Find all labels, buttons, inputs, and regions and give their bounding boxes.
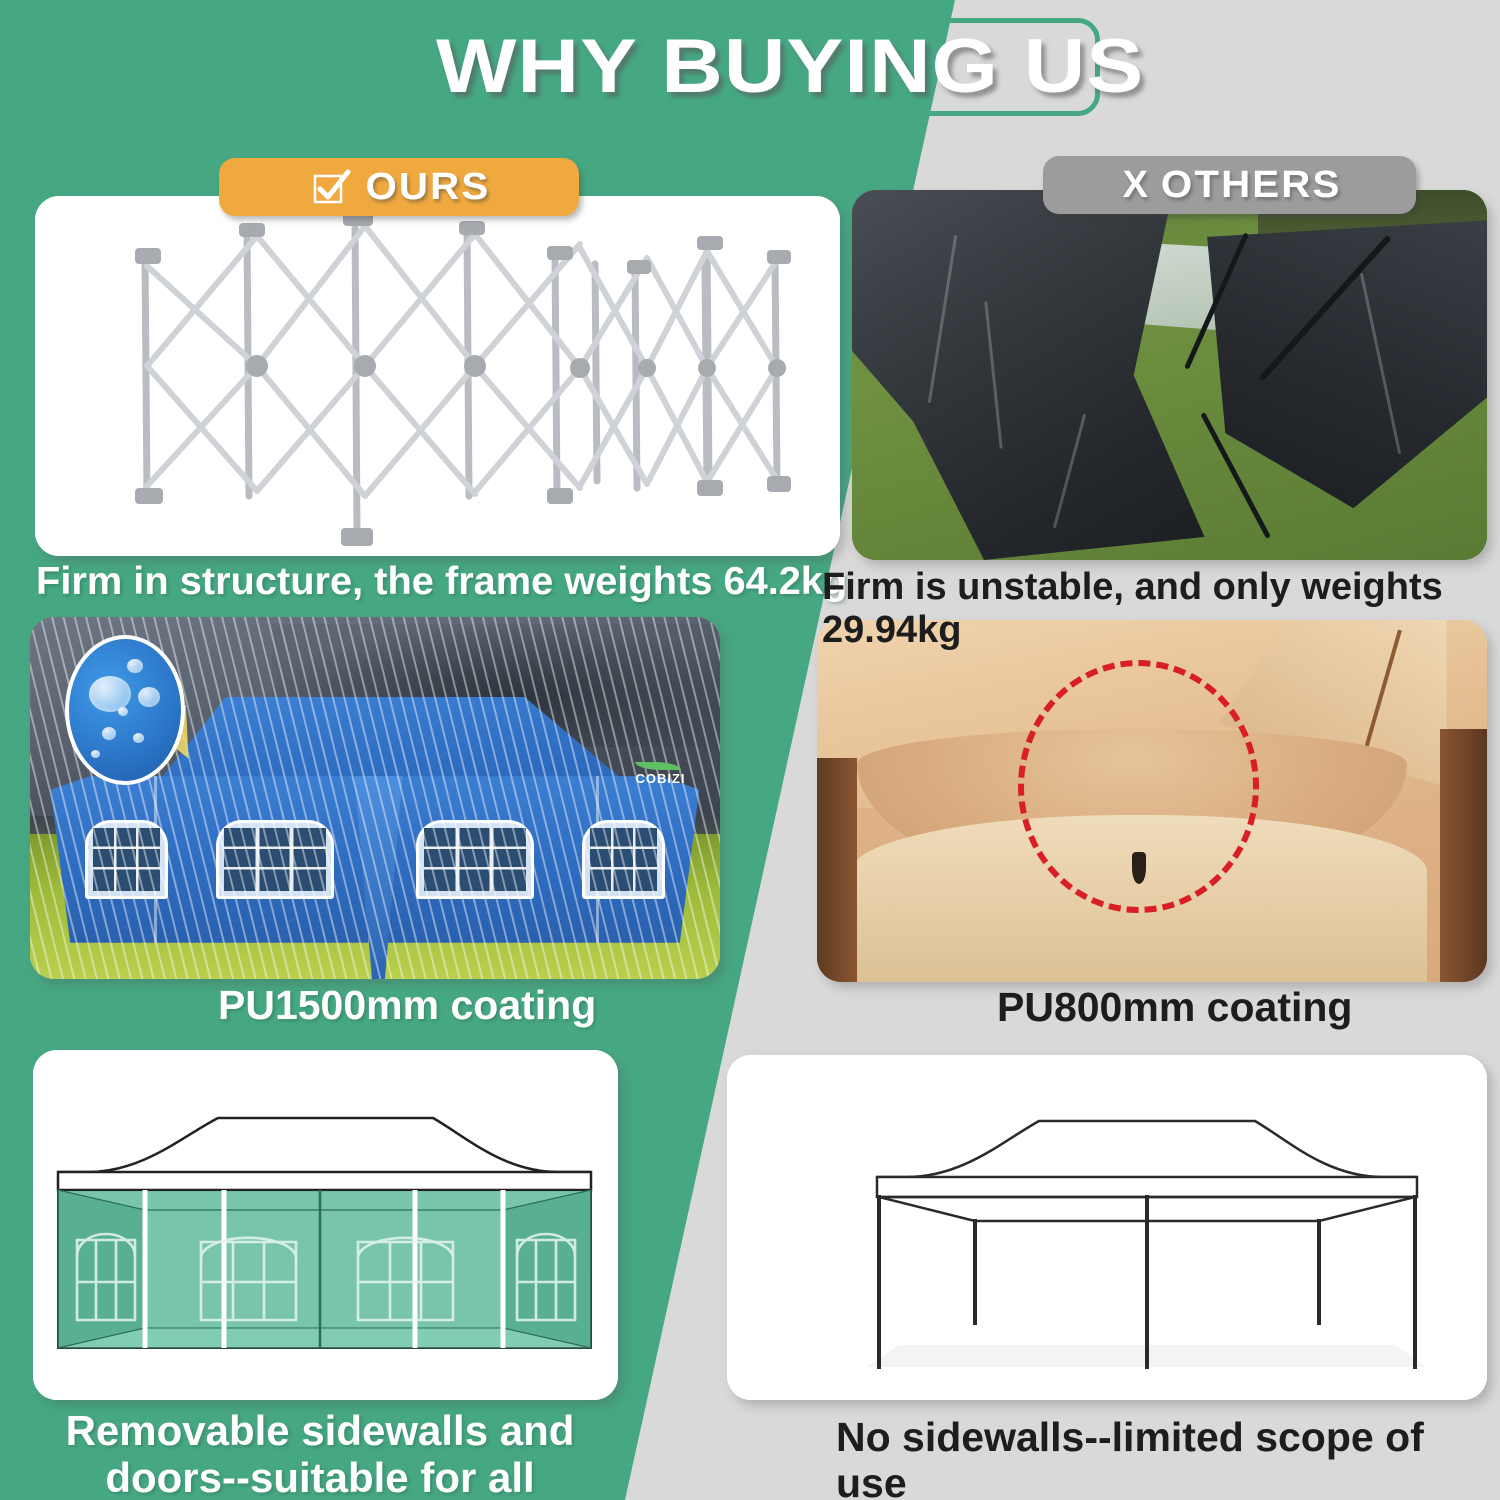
caption-ours-coating: PU1500mm coating — [218, 983, 596, 1029]
card-ours-frame — [35, 196, 840, 556]
brand-swoosh-icon — [635, 762, 681, 770]
brand-logo: COBIZI — [635, 762, 685, 786]
blue-canopy-in-rain-photo: COBIZI — [30, 617, 720, 979]
badge-ours: OURS — [219, 158, 579, 216]
caption-others-collapsed-tent: Firm is unstable, and only weights 29.94… — [822, 566, 1500, 651]
card-ours-rain: COBIZI — [30, 617, 720, 979]
folding-tent-frame-photo — [35, 196, 840, 556]
sagging-beige-canopy-photo — [817, 620, 1487, 982]
badge-ours-label: OURS — [366, 166, 491, 209]
brand-name: COBIZI — [635, 771, 685, 786]
tent-with-sidewalls-diagram — [33, 1050, 618, 1400]
page-title: WHY BUYING US — [436, 29, 1144, 105]
collapsed-black-tent-photo — [852, 190, 1487, 560]
badge-others: X OTHERS — [1043, 156, 1416, 214]
tent-without-sidewalls-diagram — [727, 1055, 1487, 1400]
x-mark-icon: X — [1123, 164, 1148, 207]
red-dashed-circle-annotation — [1018, 660, 1259, 913]
card-ours-sidewalls — [33, 1050, 618, 1400]
caption-others-coating: PU800mm coating — [997, 985, 1352, 1031]
page-title-banner: WHY BUYING US — [480, 18, 1100, 116]
caption-ours-sidewalls: Removable sidewalls and doors--suitable … — [40, 1407, 600, 1500]
checkbox-check-icon — [311, 167, 351, 207]
badge-others-label: OTHERS — [1161, 164, 1342, 207]
infographic-root: WHY BUYING US OURS X OTHERS — [0, 0, 1500, 1500]
card-others-sagging — [817, 620, 1487, 982]
water-droplet-closeup — [65, 635, 185, 785]
caption-others-no-sidewalls: No sidewalls--limited scope of use — [836, 1415, 1500, 1500]
card-others-collapsed-tent — [852, 190, 1487, 560]
card-others-no-sidewalls — [727, 1055, 1487, 1400]
caption-ours-frame: Firm in structure, the frame weights 64.… — [36, 560, 847, 604]
